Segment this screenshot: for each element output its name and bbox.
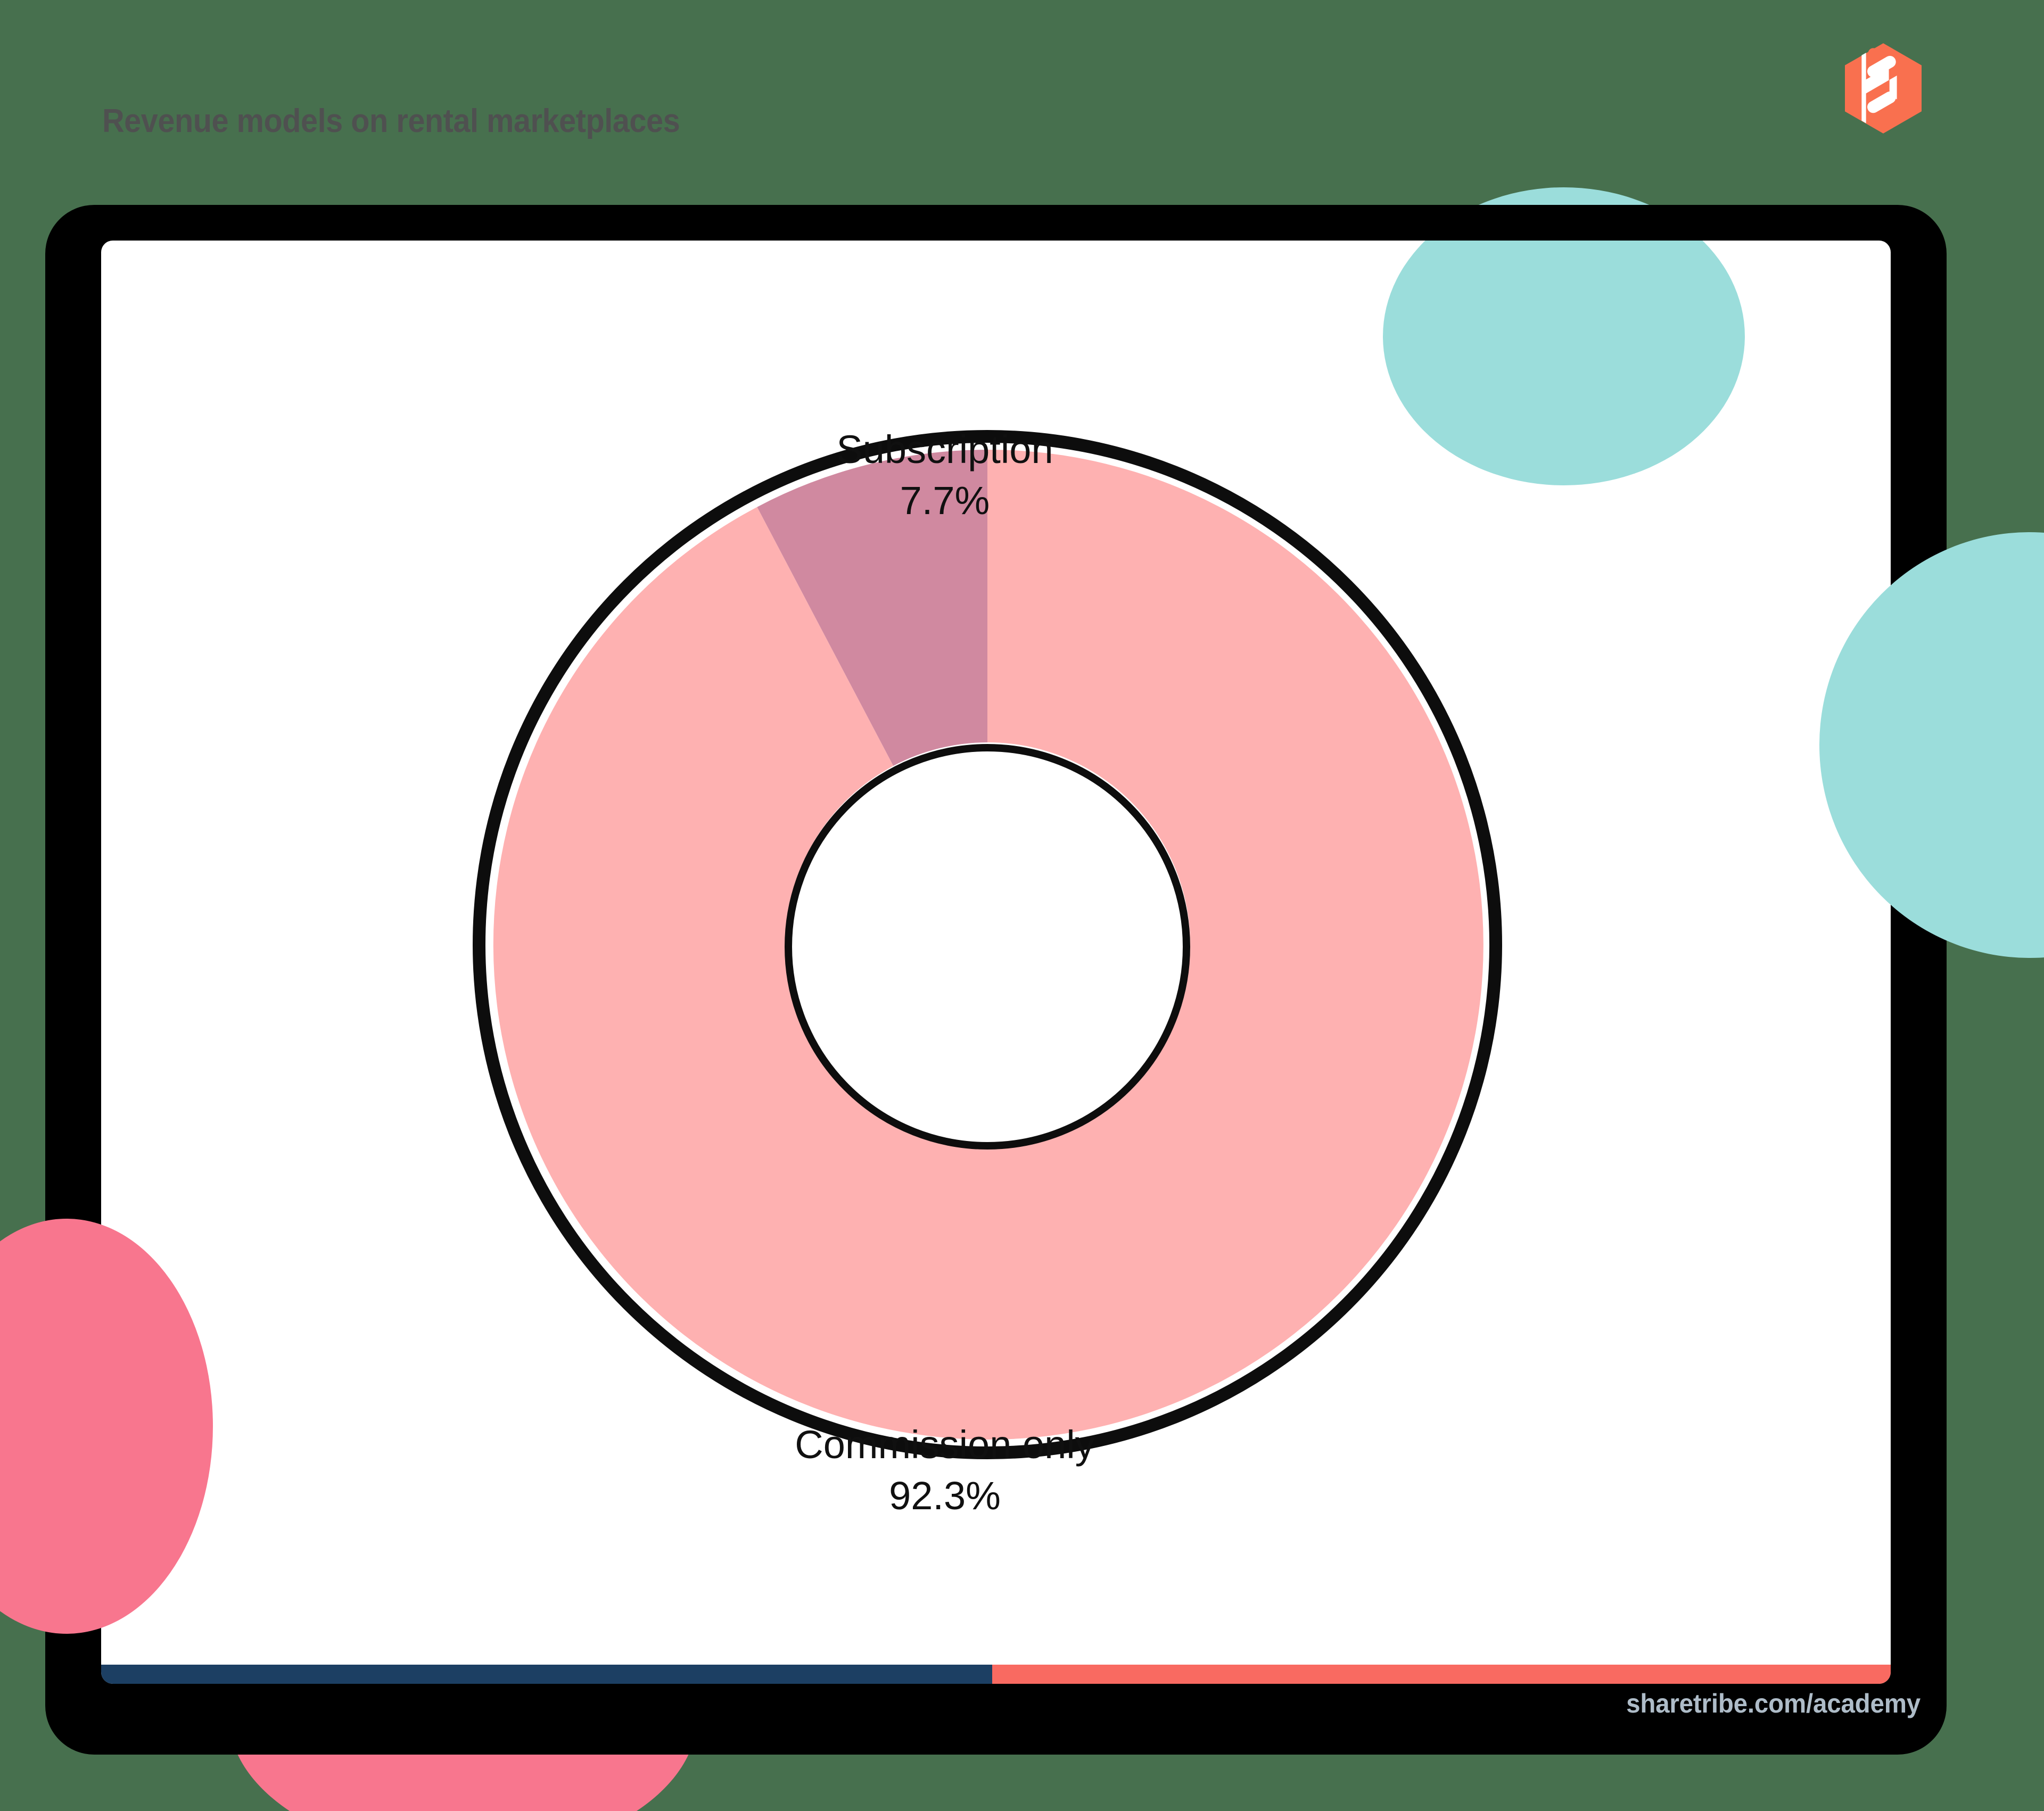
- slice-label-subscription-value: 7.7%: [753, 475, 1136, 526]
- donut-chart: Subscription 7.7% Commission only 92.3%: [101, 241, 1891, 1684]
- slice-label-commission: Commission only 92.3%: [753, 1419, 1136, 1521]
- accent-bar-coral-segment: [992, 1665, 1891, 1684]
- chart-card-panel: Subscription 7.7% Commission only 92.3%: [101, 241, 1891, 1684]
- slice-label-commission-value: 92.3%: [753, 1470, 1136, 1521]
- slice-label-subscription-name: Subscription: [753, 424, 1136, 475]
- slice-label-subscription: Subscription 7.7%: [753, 424, 1136, 526]
- accent-bar-navy-segment: [101, 1665, 992, 1684]
- accent-bar: [101, 1665, 1891, 1684]
- footer-url[interactable]: sharetribe.com/academy: [1626, 1688, 1921, 1719]
- slice-label-commission-name: Commission only: [753, 1419, 1136, 1470]
- sharetribe-logo-icon: [1841, 42, 1926, 135]
- page-title: Revenue models on rental marketplaces: [102, 102, 680, 140]
